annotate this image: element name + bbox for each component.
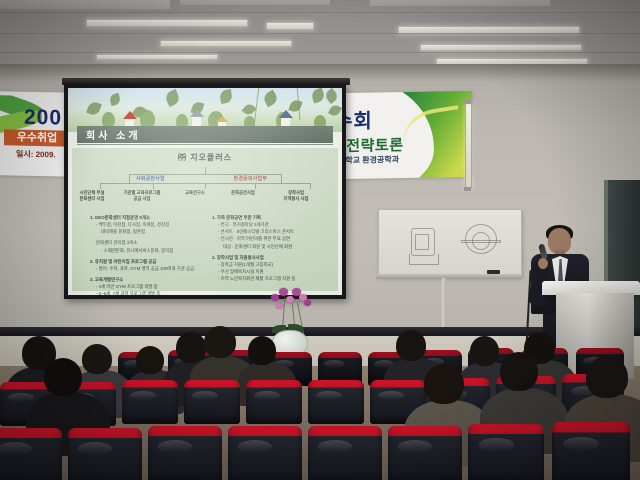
- ceiling-light: [160, 40, 292, 47]
- wall-fluorescent-tube: [465, 103, 472, 189]
- bullet: 2. 장학사업 및 자원봉사사업: [212, 254, 328, 261]
- lecture-hall-photo: 200 우수취업 일시: 2009. 수회 공전략토론 대학교 환경공학과: [0, 0, 640, 480]
- bullet: - 전시전 · 지역 어린이를 위한 무료 공연: [212, 235, 328, 242]
- bullet: 대덕해뜰 문화점, 평촌점: [90, 228, 198, 235]
- bullet: 문화센터 관리점 3개소: [90, 239, 198, 246]
- banner-left-tag: 우수취업: [4, 129, 70, 146]
- org-node: 장학사업 지역봉사 사업: [270, 190, 322, 203]
- speaker-hand: [538, 258, 548, 269]
- bullet: - 우선 장애복지시설 지원: [212, 268, 328, 275]
- slide-body: ㈜ 지오플러스 사회공헌사업 환경문화사업부 시민단체 부설 문화센터 사업 기: [72, 148, 338, 291]
- seat[interactable]: [468, 424, 544, 480]
- bullet: - 백두점, 이천점, 다사점, 죽계점, 경천점: [90, 221, 198, 228]
- bullet: - 지역 노인복지회관 재활 프로그램 지원 중: [212, 275, 328, 282]
- seat[interactable]: [308, 426, 382, 480]
- org-branch-left-label: 사회공헌사업: [136, 175, 165, 182]
- slide-title-rule: [77, 144, 333, 145]
- bullet: - 스웨덴문화, 유니에서비스문화, 봉직점: [90, 247, 198, 254]
- slide-company-name: ㈜ 지오플러스: [72, 152, 338, 163]
- bullet: 대상 : 문화센터 회원 및 시민단체 회원: [212, 243, 328, 250]
- bullet: 1. GEO문화센터 직접운영 5개소: [90, 214, 198, 221]
- slide-column-right: 1. 가족 문화공연 부문 기획 - 연극 · 뮤지컬마당 2개기관 - 콘서트…: [212, 214, 328, 282]
- org-node: 시민단체 부설 문화센터 사업: [68, 190, 118, 203]
- slide-title-bar: 회사 소개: [77, 126, 333, 143]
- banner-right-line3: 대학교 환경공학과: [338, 154, 399, 166]
- seat[interactable]: [228, 426, 302, 480]
- seat[interactable]: [68, 428, 142, 480]
- ceiling-light: [420, 44, 582, 51]
- banner-right-graphic: [396, 91, 472, 178]
- seat[interactable]: [308, 380, 364, 424]
- bullet: - 4세 미만 GYM 프로그램 개발 중: [90, 283, 198, 290]
- ceiling-light: [86, 19, 248, 27]
- whiteboard-marker[interactable]: [487, 270, 500, 274]
- org-node: 문화공연사업: [217, 190, 269, 196]
- banner-left-year: 200: [24, 106, 62, 131]
- seat[interactable]: [148, 426, 222, 480]
- bullet: 3. 교육개발연구소: [90, 276, 198, 283]
- bullet: 2. 유치원 및 어린이집 프로그램 공급: [90, 258, 198, 265]
- bullet: - 연극 · 뮤지컬마당 2개기관: [212, 221, 328, 228]
- seat[interactable]: [184, 380, 240, 424]
- seat[interactable]: [388, 426, 462, 480]
- bullet: - 장학금 지원(1개월 고등학교): [212, 261, 328, 268]
- slide-column-left: 1. GEO문화센터 직접운영 5개소 - 백두점, 이천점, 다사점, 죽계점…: [90, 214, 198, 295]
- org-node: 교육연구소: [169, 190, 221, 196]
- bullet: 1. 가족 문화공연 부문 기획: [212, 214, 328, 221]
- seat[interactable]: [552, 422, 630, 480]
- ceiling-light: [96, 54, 218, 60]
- org-chart: 사회공헌사업 환경문화사업부 시민단체 부설 문화센터 사업 기관별 교육프로그…: [86, 167, 324, 211]
- whiteboard: [378, 209, 522, 277]
- org-branch-right-label: 환경문화사업부: [234, 175, 268, 182]
- bullet: - 콘서트 · 5인페스티벌 크리스마스 콘서트: [212, 228, 328, 235]
- banner-right: 수회 공전략토론 대학교 환경공학과: [332, 91, 472, 179]
- ceiling-light: [266, 22, 314, 30]
- banner-left-date: 일시: 2009.: [16, 149, 56, 161]
- seat[interactable]: [0, 428, 62, 480]
- bullet: - 5~6세, 7세 과학 프로그램 개발 중: [90, 290, 198, 295]
- whiteboard-tray: [376, 274, 522, 279]
- seat[interactable]: [122, 380, 178, 424]
- projection-screen: 회사 소개 ㈜ 지오플러스 사회공헌사업 환경문화사업부: [64, 84, 346, 299]
- slide-title: 회사 소개: [77, 127, 141, 142]
- org-node: 기관별 교육프로그램 공급 사업: [116, 190, 168, 203]
- seat[interactable]: [246, 380, 302, 424]
- ceiling: [0, 0, 640, 68]
- bullet: - 영어, 수학, 과학, GYM 영역 공급 100여개 기관 공급: [90, 265, 198, 272]
